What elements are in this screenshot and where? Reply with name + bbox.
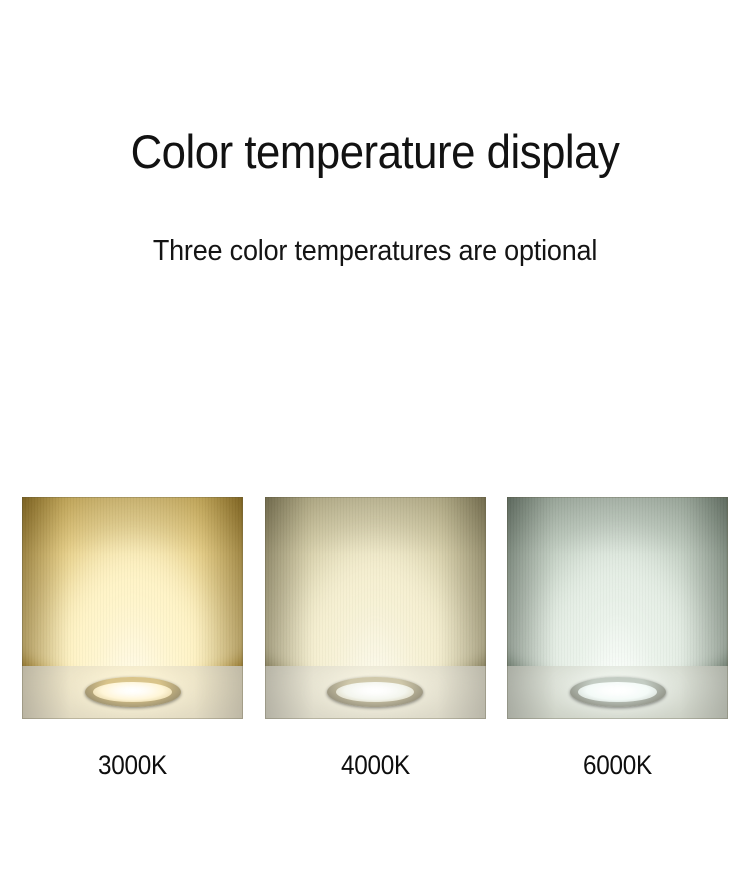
wall-6000k [507,497,728,666]
caption-3000k: 3000K [33,748,232,788]
caption-6000k: 6000K [518,748,717,788]
photo-3000k[interactable] [22,497,243,719]
page-subtitle: Three color temperatures are optional [26,231,724,271]
color-temperature-display-page: Color temperature display Three color te… [0,0,750,878]
wall-4000k [265,497,486,666]
wall-3000k [22,497,243,666]
recessed-light-fixture-4000k [327,677,423,707]
caption-4000k: 4000K [276,748,475,788]
recessed-light-fixture-3000k [85,677,181,707]
photo-4000k[interactable] [265,497,486,719]
photo-6000k[interactable] [507,497,728,719]
page-title: Color temperature display [26,122,724,182]
color-temperature-photo-strip [22,497,728,719]
color-temperature-captions: 3000K 4000K 6000K [22,748,728,788]
recessed-light-fixture-6000k [570,677,666,707]
